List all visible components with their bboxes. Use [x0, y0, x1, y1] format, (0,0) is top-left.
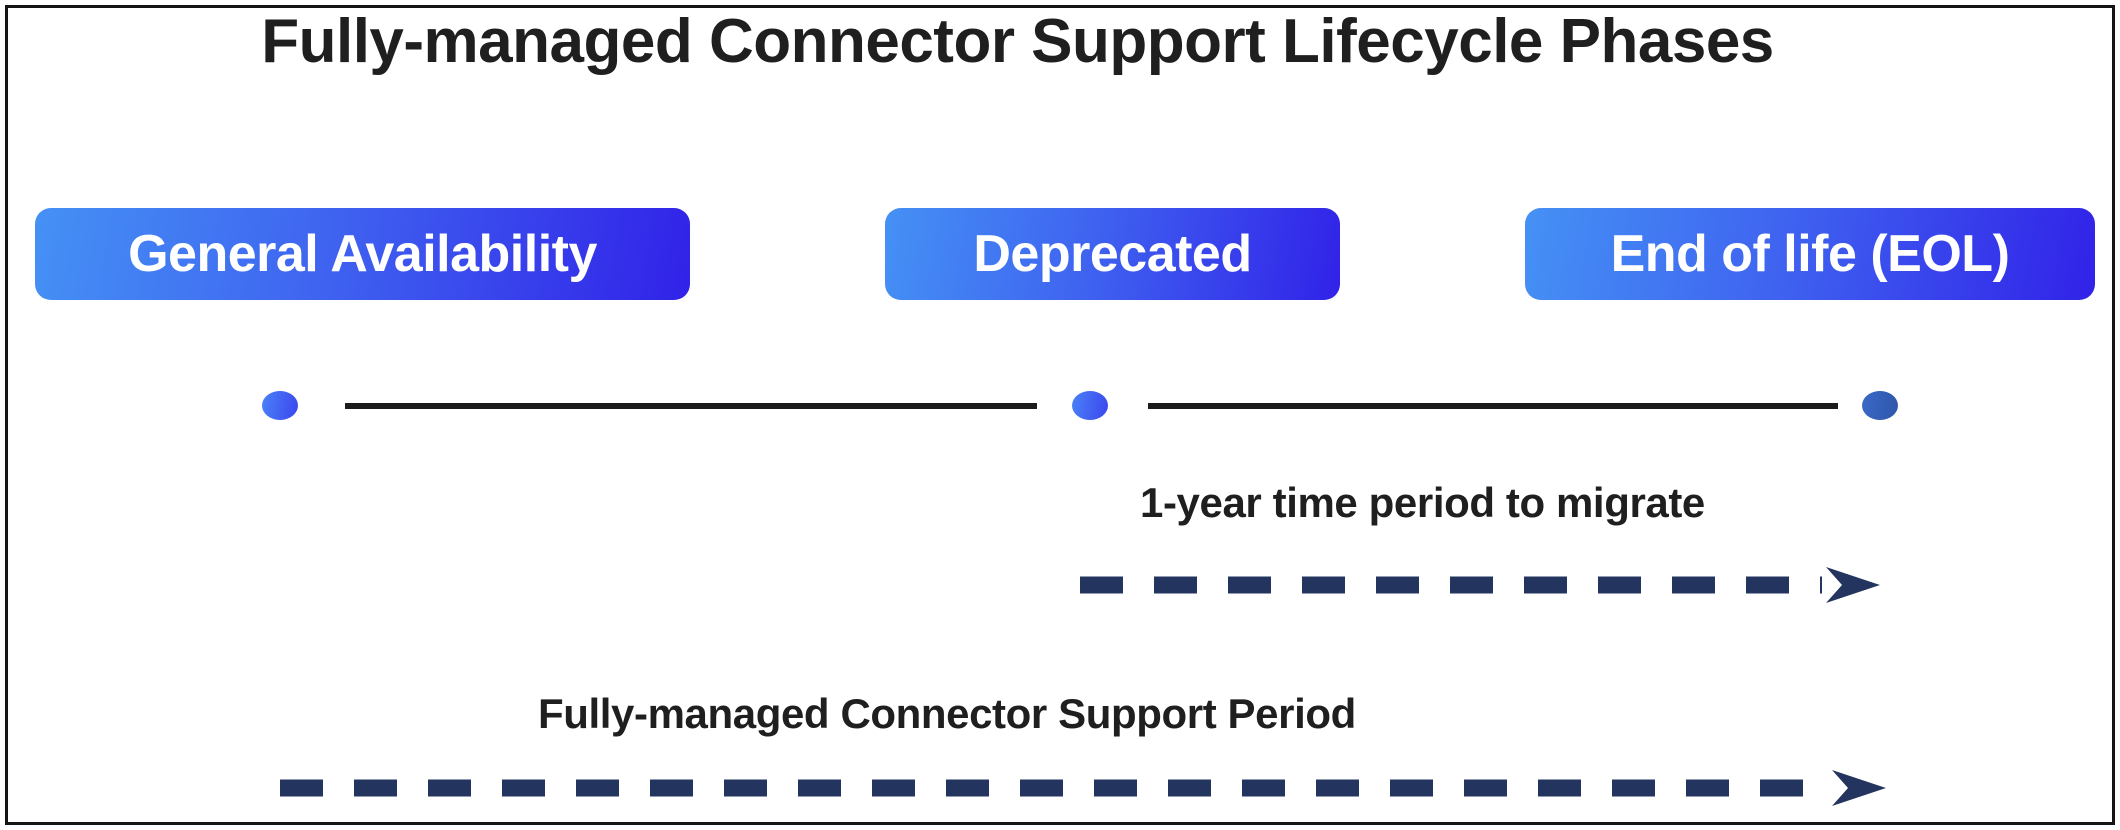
phase-badge-label: End of life (EOL) — [1611, 224, 2010, 284]
annotation-label-migrate-period: 1-year time period to migrate — [1140, 479, 1705, 527]
phase-badge-general-availability[interactable]: General Availability — [35, 208, 690, 300]
dashed-right-arrow-migrate-period — [1080, 565, 1910, 605]
annotation-label-support-period: Fully-managed Connector Support Period — [538, 690, 1356, 738]
phase-badge-label: General Availability — [128, 224, 597, 284]
dashed-right-arrow-support-period — [280, 768, 1900, 808]
lifecycle-diagram: Fully-managed Connector Support Lifecycl… — [0, 0, 2120, 830]
page-title: Fully-managed Connector Support Lifecycl… — [0, 6, 2035, 77]
phase-badge-deprecated[interactable]: Deprecated — [885, 208, 1340, 300]
phase-badge-label: Deprecated — [973, 224, 1251, 284]
timeline-milestone-dot-deprecated — [1072, 391, 1108, 420]
timeline-milestone-dot-eol — [1862, 391, 1898, 420]
dashed-arrow-icon — [280, 768, 1900, 808]
dashed-arrow-icon — [1080, 565, 1910, 605]
timeline-segment-deprecated-to-eol — [1148, 403, 1838, 409]
timeline-segment-ga-to-deprecated — [345, 403, 1037, 409]
phase-badge-end-of-life[interactable]: End of life (EOL) — [1525, 208, 2095, 300]
timeline-milestone-dot-ga — [262, 391, 298, 420]
